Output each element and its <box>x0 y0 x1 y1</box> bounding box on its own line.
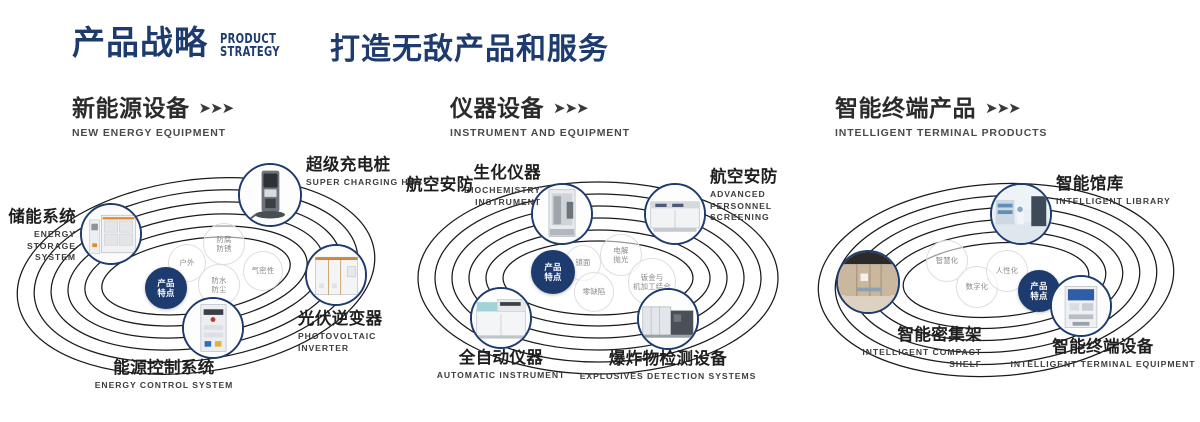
node-energy-control-system[interactable] <box>182 297 244 359</box>
page-header: 产品战略 PRODUCT STRATEGY <box>72 26 293 59</box>
chevrons-icon: ➤➤➤ <box>985 100 1020 117</box>
node-advanced-personnel-screening[interactable] <box>644 183 706 245</box>
panel-intelligent-terminal: 智慧化 数字化 人性化 产品特点 智能馆库 INTELLIGENT LIBRAR… <box>800 150 1200 412</box>
product-strategy-infographic: 产品战略 PRODUCT STRATEGY 打造无敌产品和服务 新能源设备➤➤➤… <box>0 0 1200 422</box>
section-heading-new-energy: 新能源设备➤➤➤ NEW ENERGY EQUIPMENT <box>72 97 233 139</box>
section-title-en: INTELLIGENT TERMINAL PRODUCTS <box>835 127 1047 139</box>
panel-new-energy: 户外 防腐 防锈 防水 防尘 气密性 产品特点 储能系统 ENERGY STOR… <box>0 150 400 412</box>
node-intelligent-library[interactable] <box>990 183 1052 245</box>
label-intelligent-terminal-equipment: 智能终端设备 INTELLIGENT TERMINAL EQUIPMENT <box>1006 338 1200 371</box>
feature-bubble: 气密性 <box>243 251 283 291</box>
core-bubble-product-features: 产品特点 <box>531 250 575 294</box>
section-title-cn: 新能源设备➤➤➤ <box>72 97 233 122</box>
node-photovoltaic-inverter[interactable] <box>305 244 367 306</box>
section-title-en: INSTRUMENT AND EQUIPMENT <box>450 127 630 139</box>
label-automatic-instrument: 全自动仪器 AUTOMATIC INSTRUMENT <box>416 349 586 382</box>
page-title-en-line2: STRATEGY <box>220 46 280 59</box>
node-intelligent-compact-shelf[interactable] <box>836 250 900 314</box>
label-intelligent-library: 智能馆库 INTELLIGENT LIBRARY <box>1056 175 1196 208</box>
section-heading-intelligent-terminal: 智能终端产品➤➤➤ INTELLIGENT TERMINAL PRODUCTS <box>835 97 1047 139</box>
chevrons-icon: ➤➤➤ <box>199 100 234 117</box>
panel-instrument: 镜面 电解 抛光 零缺陷 钣金与 机加工结合 产品特点 生化仪器 BIOCHEM… <box>398 150 798 412</box>
core-bubble-product-features: 产品特点 <box>145 267 187 309</box>
page-subtitle: 打造无敌产品和服务 <box>330 32 609 68</box>
feature-bubble: 零缺陷 <box>574 272 614 312</box>
node-super-charging-hub[interactable] <box>238 163 302 227</box>
section-heading-instrument: 仪器设备➤➤➤ INSTRUMENT AND EQUIPMENT <box>450 97 630 139</box>
section-title-en: NEW ENERGY EQUIPMENT <box>72 127 233 139</box>
label-aviation-security: 航空安防 <box>406 176 474 195</box>
page-title-cn: 产品战略 <box>72 26 208 59</box>
node-energy-storage-system[interactable] <box>80 203 142 265</box>
node-explosives-detection-systems[interactable] <box>637 288 699 350</box>
node-automatic-instrument[interactable] <box>470 287 532 349</box>
chevrons-icon: ➤➤➤ <box>553 100 588 117</box>
node-intelligent-terminal-equipment[interactable] <box>1050 275 1112 337</box>
label-energy-control-system: 能源控制系统 ENERGY CONTROL SYSTEM <box>78 359 250 392</box>
label-explosives-detection-systems: 爆炸物检测设备 EXPLOSIVES DETECTION SYSTEMS <box>578 350 758 383</box>
label-energy-storage-system: 储能系统 ENERGY STORAGE SYSTEM <box>0 208 76 264</box>
page-title-en: PRODUCT STRATEGY <box>220 33 280 58</box>
feature-bubble: 防腐 防锈 <box>203 223 245 265</box>
section-title-cn: 仪器设备➤➤➤ <box>450 97 630 122</box>
section-title-cn: 智能终端产品➤➤➤ <box>835 97 1047 122</box>
label-intelligent-compact-shelf: 智能密集架 INTELLIGENT COMPACT SHELF <box>800 326 982 370</box>
